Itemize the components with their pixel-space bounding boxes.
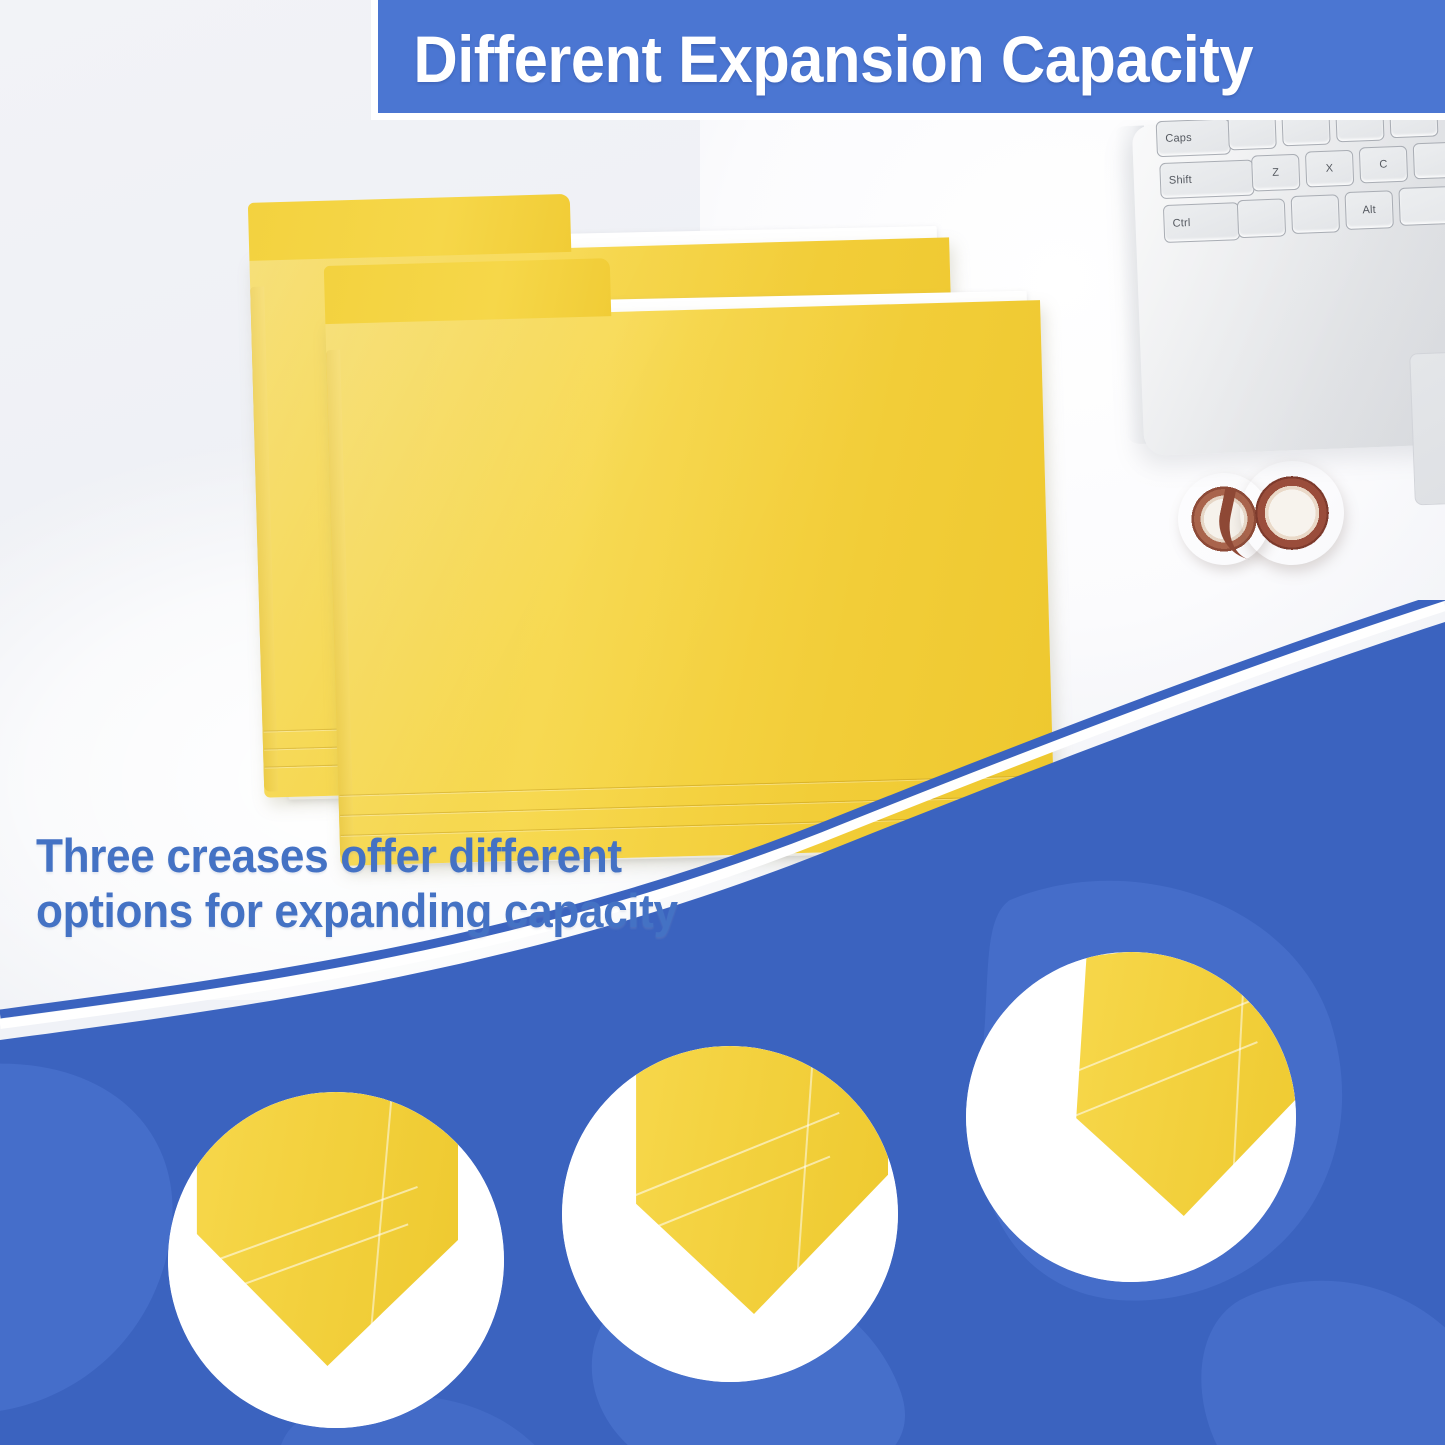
key-caps: Caps <box>1156 118 1231 157</box>
folder-corner-2 <box>620 1046 888 1314</box>
detail-circle-crease-2 <box>562 1046 898 1382</box>
caption-line-1: Three creases offer different <box>36 828 863 883</box>
folder-body-front <box>325 300 1055 866</box>
detail-circle-3-clip <box>966 952 1296 1282</box>
product-marketing-poster: Caps Shift Z X C Ctrl Alt <box>0 0 1445 1445</box>
folder-gloss-front <box>325 300 1055 866</box>
key-c: C <box>1359 146 1408 184</box>
key-shift: Shift <box>1159 160 1254 200</box>
folder-tab-back <box>248 194 571 261</box>
key-z: Z <box>1251 154 1300 192</box>
key-fn <box>1237 198 1286 238</box>
key-blank-mid <box>1413 142 1445 180</box>
key-alt: Alt <box>1345 190 1394 230</box>
folder-spine-back <box>250 286 278 791</box>
key-ctrl: Ctrl <box>1163 202 1240 243</box>
laptop: Caps Shift Z X C Ctrl Alt <box>1132 110 1445 456</box>
wave-blob-left <box>0 1064 173 1414</box>
detail-circle-2-clip <box>562 1046 898 1382</box>
detail-circle-crease-3 <box>966 952 1296 1282</box>
detail-circle-1-clip <box>168 1092 504 1428</box>
key-x: X <box>1305 150 1354 188</box>
laptop-trackpad <box>1409 347 1445 506</box>
key-win <box>1291 194 1340 234</box>
header-banner: Different Expansion Capacity <box>371 0 1445 120</box>
detail-circle-crease-1 <box>168 1092 504 1428</box>
folder-crease-front-1 <box>340 775 1053 796</box>
folder-crease-front-2 <box>340 795 1053 816</box>
wave-blob-right-lower <box>1201 1281 1445 1445</box>
folder-corner-3 <box>1066 952 1296 1216</box>
folder-tab-front <box>324 258 612 324</box>
key-space <box>1398 183 1445 226</box>
caption-line-2: options for expanding capacity <box>36 883 863 938</box>
folder-corner-1 <box>186 1092 458 1366</box>
caption-text: Three creases offer different options fo… <box>36 828 863 939</box>
banner-title: Different Expansion Capacity <box>378 16 1253 92</box>
file-folder-front <box>324 246 1055 866</box>
